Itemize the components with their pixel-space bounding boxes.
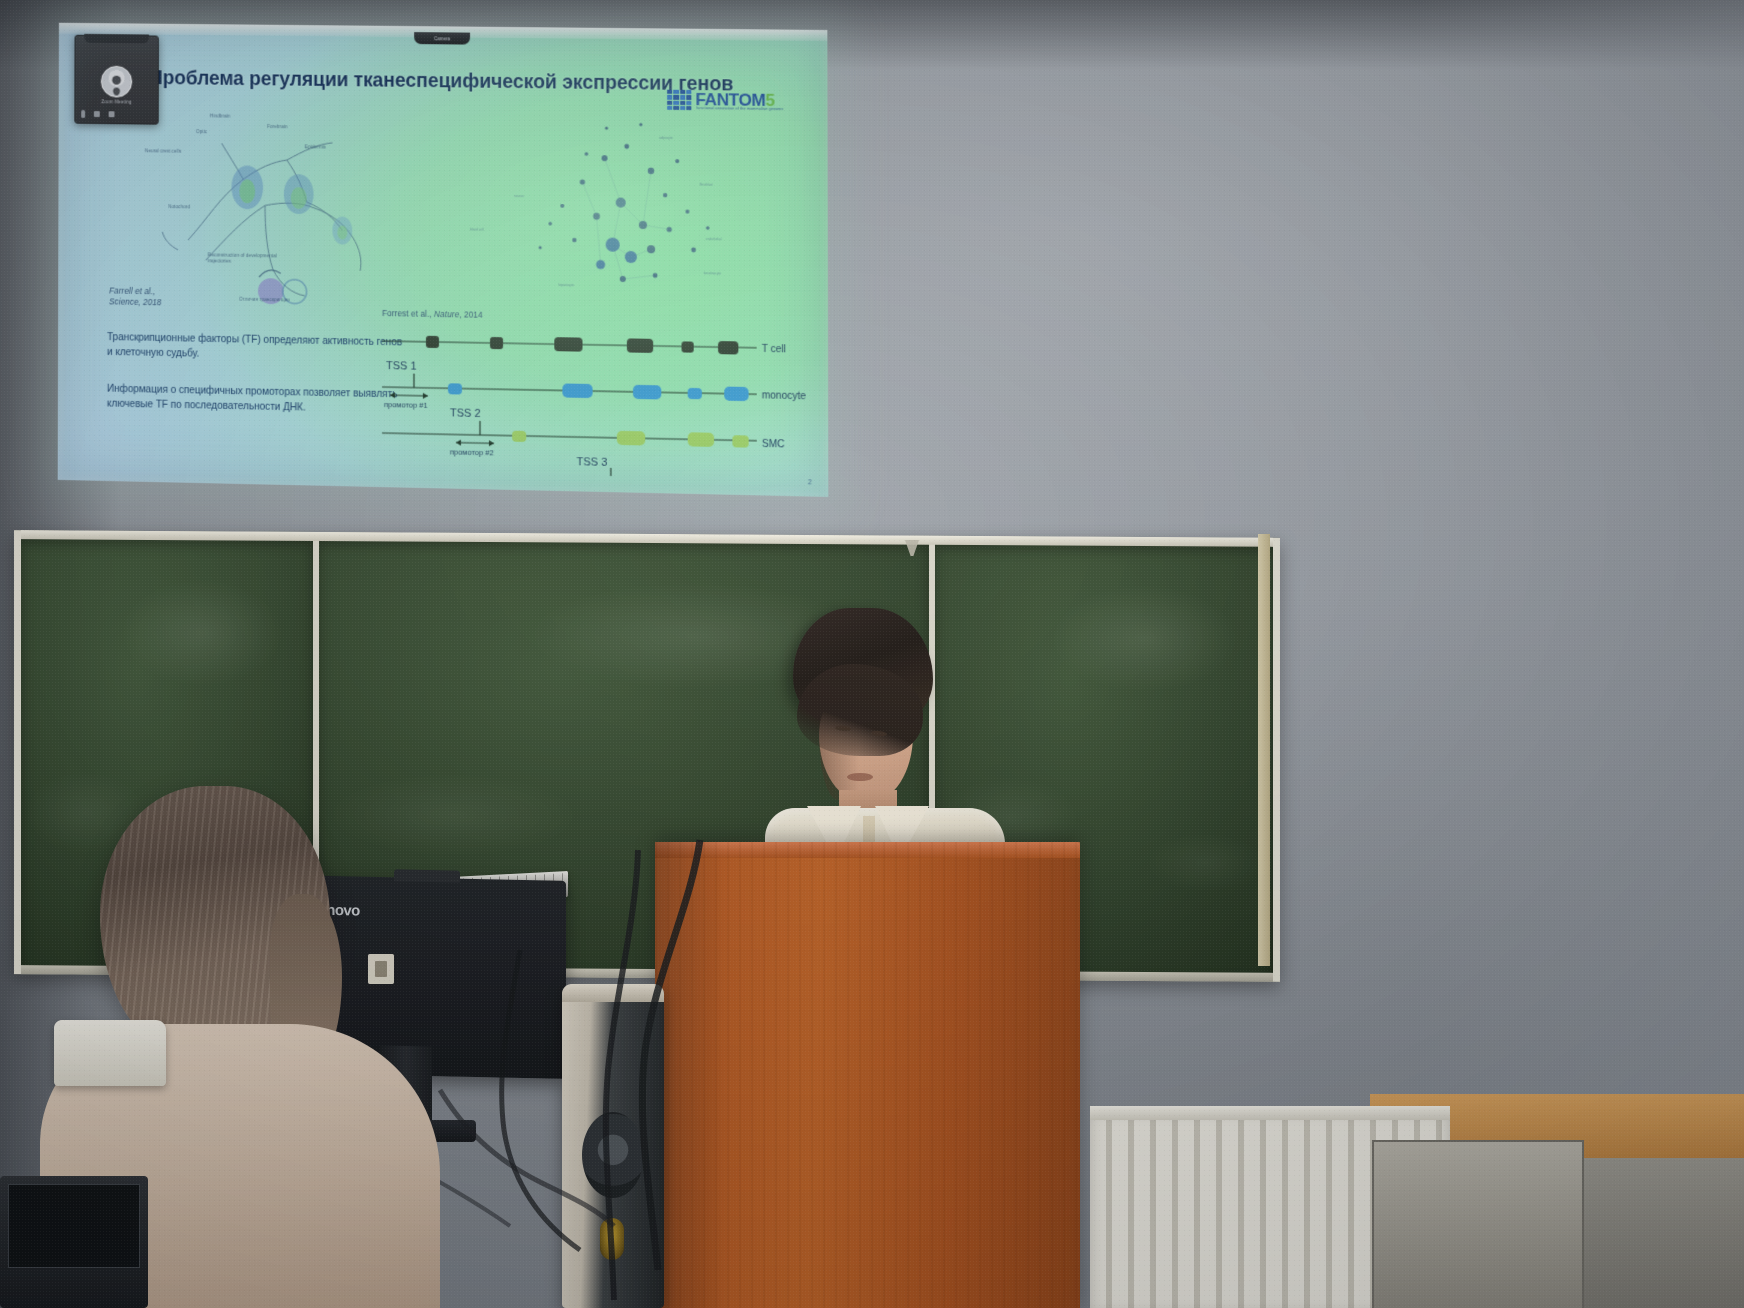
figure-label-reconstruction: Reconstruction of developmental trajecto… [208, 252, 287, 265]
figure-label-hindbrain: Hindbrain [210, 113, 246, 119]
laptop-screen [8, 1184, 140, 1268]
slide-paragraph-2: Информация о специфичных промоторах позв… [107, 382, 404, 418]
camera-bar-label: Camera [434, 36, 450, 41]
figure-label-epidermis: Epidermis [305, 144, 341, 150]
citation-right-prefix: Forrest et al., [382, 309, 434, 319]
audio-subwoofer [562, 984, 664, 1308]
svg-text:SMC: SMC [762, 439, 785, 451]
citation-right: Forrest et al., Nature, 2014 [382, 308, 483, 321]
camera-bar-overlay: Camera [414, 32, 470, 45]
speaker-cone-icon [582, 1112, 644, 1198]
svg-text:T cell: T cell [762, 344, 786, 356]
figure-label-forebrain: Forebrain [267, 124, 305, 130]
more-options-icon[interactable] [109, 111, 115, 117]
svg-text:fibroblast: fibroblast [700, 183, 713, 187]
figure-label-notochord: Notochord [168, 204, 203, 210]
svg-text:промотор #1: промотор #1 [384, 400, 428, 410]
citation-right-journal: Nature [434, 310, 459, 319]
storage-cabinet [1372, 1140, 1584, 1308]
svg-text:endothelial: endothelial [706, 237, 722, 241]
citation-left-line2: Science, 2018 [109, 297, 161, 307]
lecture-hall-photo: Camera Проблема регуляции тканеспецифиче… [0, 0, 1744, 1308]
projection-screen: Camera Проблема регуляции тканеспецифиче… [58, 23, 829, 497]
fantom-network-figure: adipocyte fibroblast endothelial neuron … [454, 96, 787, 327]
svg-text:hepatocyte: hepatocyte [558, 283, 574, 287]
slide-page-number: 2 [808, 479, 812, 486]
citation-left: Farrell et al., Science, 2018 [109, 286, 161, 309]
subwoofer-top [562, 984, 664, 1002]
podium-left-shadow [655, 842, 725, 1308]
svg-text:TSS 3: TSS 3 [577, 456, 608, 469]
figure-caption-transcription: Отличия транскрипции [239, 297, 308, 304]
figure-label-optic: Optic [196, 129, 226, 135]
avatar [101, 66, 132, 98]
presenter-person: GRADUATION THE FIRST GENERATION OF ALL [735, 608, 1045, 868]
video-call-controls[interactable] [81, 110, 114, 118]
video-call-participant-name: Zoom Meeting [75, 99, 157, 105]
svg-text:adipocyte: adipocyte [659, 136, 673, 140]
citation-right-suffix: , 2014 [459, 310, 482, 319]
microphone-icon[interactable] [81, 110, 85, 118]
blackboard-right-edge [1258, 534, 1270, 966]
svg-text:промотор #2: промотор #2 [450, 447, 494, 457]
svg-text:keratinocyte: keratinocyte [704, 271, 722, 275]
promoter-tss-diagram: T cell TSS 1 промотор #1 monocyte TSS 2 [364, 323, 808, 481]
radiator-top-rail [1090, 1106, 1450, 1120]
video-call-titlebar [84, 34, 149, 44]
foreground-laptop[interactable] [0, 1176, 148, 1308]
svg-text:blood cell: blood cell [470, 227, 484, 231]
svg-text:monocyte: monocyte [762, 390, 807, 402]
wooden-podium [655, 842, 1080, 1308]
presenter-mouth [847, 773, 873, 781]
svg-text:TSS 2: TSS 2 [450, 407, 481, 420]
subwoofer-bass-port [600, 1218, 624, 1260]
chair-backrest [54, 1020, 166, 1086]
video-camera-icon[interactable] [94, 111, 100, 117]
svg-text:neuron: neuron [514, 194, 524, 198]
svg-text:TSS 1: TSS 1 [386, 360, 416, 373]
slide-paragraph-1: Транскрипционные факторы (TF) определяют… [107, 330, 404, 366]
video-call-panel[interactable]: Zoom Meeting [74, 35, 159, 125]
developmental-trajectory-figure: Neural crest cells Hindbrain Forebrain E… [148, 101, 416, 319]
figure-label-neural-crest: Neural crest cells [145, 148, 196, 154]
citation-left-line1: Farrell et al., [109, 287, 155, 297]
